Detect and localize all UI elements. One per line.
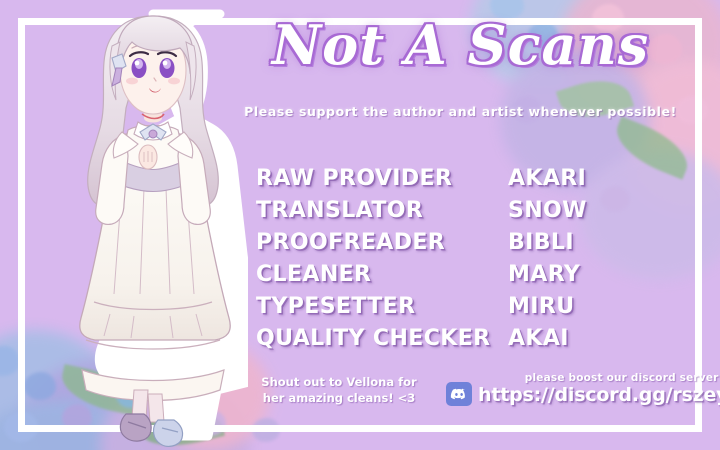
shoutout-line-2: her amazing cleans! <3 xyxy=(248,390,430,406)
credit-row: PROOFREADER BIBLI xyxy=(256,230,656,262)
credit-row: RAW PROVIDER AKARI xyxy=(256,166,656,198)
credit-name: AKAI xyxy=(508,326,648,351)
credit-row: TRANSLATOR SNOW xyxy=(256,198,656,230)
credit-role: CLEANER xyxy=(256,262,508,287)
content-column: Not A Scans Please support the author an… xyxy=(238,0,720,450)
discord-url-link[interactable]: https://discord.gg/rszeywm xyxy=(478,384,720,406)
credit-name: BIBLI xyxy=(508,230,648,255)
credit-role: TRANSLATOR xyxy=(256,198,508,223)
credit-name: AKARI xyxy=(508,166,648,191)
credit-role: QUALITY CHECKER xyxy=(256,326,508,351)
discord-invite[interactable]: please boost our discord server https://… xyxy=(446,372,714,406)
credit-name: MARY xyxy=(508,262,648,287)
discord-prompt: please boost our discord server xyxy=(478,372,720,384)
credit-row: TYPESETTER MIRU xyxy=(256,294,656,326)
credit-row: CLEANER MARY xyxy=(256,262,656,294)
discord-logo-icon xyxy=(446,382,472,406)
page-title: Not A Scans xyxy=(238,14,683,76)
credits-list: RAW PROVIDER AKARI TRANSLATOR SNOW PROOF… xyxy=(256,166,656,358)
credit-name: SNOW xyxy=(508,198,648,223)
shoutout-note: Shout out to Vellona for her amazing cle… xyxy=(248,374,430,406)
support-message: Please support the author and artist whe… xyxy=(238,104,683,119)
credit-role: RAW PROVIDER xyxy=(256,166,508,191)
shoutout-line-1: Shout out to Vellona for xyxy=(248,374,430,390)
credit-role: PROOFREADER xyxy=(256,230,508,255)
credit-row: QUALITY CHECKER AKAI xyxy=(256,326,656,358)
credit-name: MIRU xyxy=(508,294,648,319)
discord-text-group: please boost our discord server https://… xyxy=(478,372,720,406)
character-illustration xyxy=(58,2,248,450)
credits-page: Not A Scans Please support the author an… xyxy=(0,0,720,450)
credit-role: TYPESETTER xyxy=(256,294,508,319)
